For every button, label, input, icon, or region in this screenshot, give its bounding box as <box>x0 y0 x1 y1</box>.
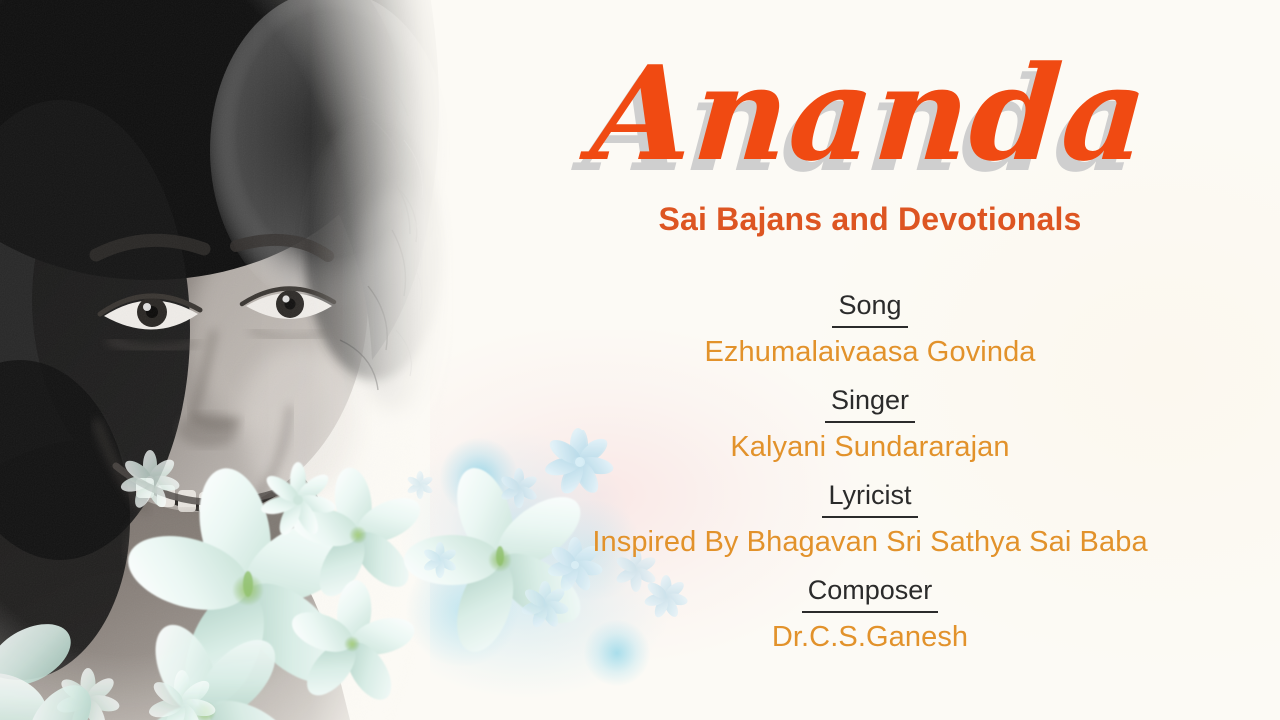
credit-value-composer: Dr.C.S.Ganesh <box>470 613 1270 662</box>
page-title: Ananda <box>464 30 1276 198</box>
credit-value-lyricist: Inspired By Bhagavan Sri Sathya Sai Baba <box>470 518 1270 567</box>
title-card: Ananda Ananda Sai Bajans and Devotionals… <box>0 0 1280 720</box>
portrait-image <box>0 0 480 720</box>
credit-row: Singer Kalyani Sundararajan <box>470 383 1270 472</box>
credit-row: Song Ezhumalaivaasa Govinda <box>470 288 1270 377</box>
credit-value-singer: Kalyani Sundararajan <box>470 423 1270 472</box>
credit-label-song: Song <box>832 288 907 328</box>
credit-value-song: Ezhumalaivaasa Govinda <box>470 328 1270 377</box>
credit-label-singer: Singer <box>825 383 915 423</box>
credits-list: Song Ezhumalaivaasa Govinda Singer Kalya… <box>470 288 1270 662</box>
title-block: Ananda Ananda Sai Bajans and Devotionals <box>470 30 1270 238</box>
credit-label-lyricist: Lyricist <box>822 478 917 518</box>
credit-row: Composer Dr.C.S.Ganesh <box>470 573 1270 662</box>
credit-row: Lyricist Inspired By Bhagavan Sri Sathya… <box>470 478 1270 567</box>
credit-label-composer: Composer <box>802 573 939 613</box>
title-wrap: Ananda Ananda <box>470 30 1270 205</box>
